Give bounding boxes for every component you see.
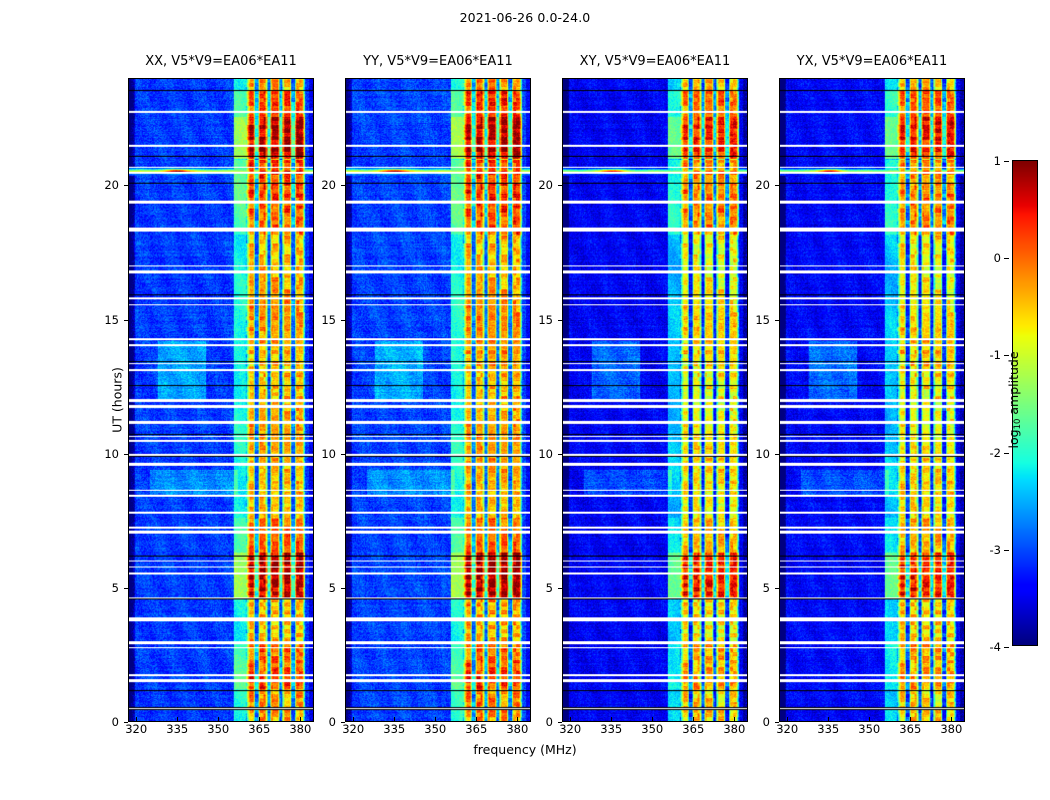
x-tick-label: 380 (289, 722, 311, 736)
heatmap-canvas-xx (129, 79, 313, 721)
x-tick-label: 350 (858, 722, 880, 736)
y-tick-mark (341, 454, 345, 455)
y-tick-mark (124, 320, 128, 321)
x-tick-mark (611, 717, 612, 721)
y-axis-label: UT (hours) (109, 367, 124, 433)
x-tick-label: 350 (207, 722, 229, 736)
y-tick-mark (558, 320, 562, 321)
heatmap-canvas-xy (563, 79, 747, 721)
x-tick-mark (787, 717, 788, 721)
colorbar-label: log10 amplitude (1006, 351, 1023, 448)
y-tick-label: 20 (538, 178, 553, 192)
y-tick-mark (341, 588, 345, 589)
x-tick-label: 350 (424, 722, 446, 736)
colorbar-tick-label: -4 (990, 640, 1001, 654)
x-tick-label: 365 (899, 722, 921, 736)
subplot-xx[interactable]: XX, V5*V9=EA06*EA11 05101520 32033535036… (128, 78, 314, 722)
x-tick-mark (828, 717, 829, 721)
x-tick-mark (951, 717, 952, 721)
y-tick-label: 15 (321, 313, 336, 327)
figure-canvas: 2021-06-26 0.0-24.0 XX, V5*V9=EA06*EA11 … (0, 0, 1050, 800)
x-tick-mark (394, 717, 395, 721)
y-tick-label: 10 (321, 447, 336, 461)
y-tick-label: 15 (755, 313, 770, 327)
colorbar-ticks: 10-1-2-3-4 (961, 161, 1009, 647)
x-tick-label: 365 (465, 722, 487, 736)
y-axis-ticks-xy: 05101520 (518, 78, 562, 722)
y-axis-ticks-yx: 05101520 (735, 78, 779, 722)
y-tick-mark (775, 588, 779, 589)
subplot-title-xx: XX, V5*V9=EA06*EA11 (145, 54, 297, 69)
x-tick-mark (353, 717, 354, 721)
y-tick-label: 10 (755, 447, 770, 461)
colorbar-tick-mark (1004, 647, 1009, 648)
figure-suptitle: 2021-06-26 0.0-24.0 (0, 10, 1050, 25)
colorbar-label-prefix: log (1006, 429, 1021, 448)
x-tick-mark (218, 717, 219, 721)
x-tick-label: 380 (723, 722, 745, 736)
subplot-yx[interactable]: YX, V5*V9=EA06*EA11 05101520 32033535036… (779, 78, 965, 722)
x-tick-mark (177, 717, 178, 721)
heatmap-canvas-yy (346, 79, 530, 721)
y-tick-mark (558, 454, 562, 455)
x-tick-mark (476, 717, 477, 721)
y-tick-mark (558, 588, 562, 589)
y-tick-mark (124, 588, 128, 589)
x-tick-label: 335 (817, 722, 839, 736)
x-tick-label: 335 (166, 722, 188, 736)
x-tick-label: 335 (600, 722, 622, 736)
y-tick-label: 0 (546, 715, 553, 729)
heatmap-yy[interactable] (345, 78, 531, 722)
colorbar-label-suffix: amplitude (1006, 351, 1021, 418)
x-tick-mark (910, 717, 911, 721)
y-tick-label: 20 (104, 178, 119, 192)
colorbar-tick-mark (1004, 453, 1009, 454)
x-tick-label: 320 (125, 722, 147, 736)
x-tick-label: 320 (776, 722, 798, 736)
y-tick-label: 15 (538, 313, 553, 327)
x-tick-mark (259, 717, 260, 721)
y-tick-label: 5 (763, 581, 770, 595)
x-tick-mark (136, 717, 137, 721)
y-tick-label: 20 (755, 178, 770, 192)
x-tick-mark (435, 717, 436, 721)
y-tick-mark (124, 454, 128, 455)
colorbar-tick-label: 1 (994, 154, 1001, 168)
y-tick-label: 0 (112, 715, 119, 729)
x-tick-label: 320 (559, 722, 581, 736)
y-tick-mark (558, 185, 562, 186)
x-tick-mark (652, 717, 653, 721)
x-tick-label: 350 (641, 722, 663, 736)
subplot-xy[interactable]: XY, V5*V9=EA06*EA11 05101520 32033535036… (562, 78, 748, 722)
y-tick-mark (341, 320, 345, 321)
x-axis-label: frequency (MHz) (0, 742, 1050, 757)
y-tick-label: 5 (112, 581, 119, 595)
x-tick-label: 335 (383, 722, 405, 736)
y-tick-label: 5 (329, 581, 336, 595)
subplot-title-xy: XY, V5*V9=EA06*EA11 (580, 54, 731, 69)
x-tick-label: 365 (682, 722, 704, 736)
y-tick-label: 0 (763, 715, 770, 729)
x-tick-mark (570, 717, 571, 721)
x-tick-label: 320 (342, 722, 364, 736)
y-tick-mark (124, 185, 128, 186)
y-tick-mark (341, 185, 345, 186)
colorbar-tick-mark (1004, 161, 1009, 162)
colorbar-tick-label: -2 (990, 446, 1001, 460)
y-axis-ticks-yy: 05101520 (301, 78, 345, 722)
y-tick-label: 5 (546, 581, 553, 595)
x-tick-mark (869, 717, 870, 721)
colorbar-tick-label: -3 (990, 543, 1001, 557)
heatmap-xx[interactable] (128, 78, 314, 722)
subplot-title-yy: YY, V5*V9=EA06*EA11 (363, 54, 513, 69)
x-tick-mark (693, 717, 694, 721)
subplot-title-yx: YX, V5*V9=EA06*EA11 (797, 54, 948, 69)
y-tick-label: 20 (321, 178, 336, 192)
y-tick-mark (775, 454, 779, 455)
x-tick-label: 380 (506, 722, 528, 736)
heatmap-yx[interactable] (779, 78, 965, 722)
y-tick-label: 0 (329, 715, 336, 729)
heatmap-xy[interactable] (562, 78, 748, 722)
colorbar-label-subscript: 10 (1013, 419, 1023, 430)
x-tick-label: 365 (248, 722, 270, 736)
y-tick-label: 10 (538, 447, 553, 461)
colorbar-tick-mark (1004, 258, 1009, 259)
colorbar-tick-mark (1004, 550, 1009, 551)
y-tick-label: 10 (104, 447, 119, 461)
y-tick-mark (775, 185, 779, 186)
y-tick-mark (775, 320, 779, 321)
heatmap-canvas-yx (780, 79, 964, 721)
colorbar-tick-label: -1 (990, 348, 1001, 362)
subplot-yy[interactable]: YY, V5*V9=EA06*EA11 05101520 32033535036… (345, 78, 531, 722)
x-tick-label: 380 (940, 722, 962, 736)
y-tick-label: 15 (104, 313, 119, 327)
colorbar-tick-label: 0 (994, 251, 1001, 265)
